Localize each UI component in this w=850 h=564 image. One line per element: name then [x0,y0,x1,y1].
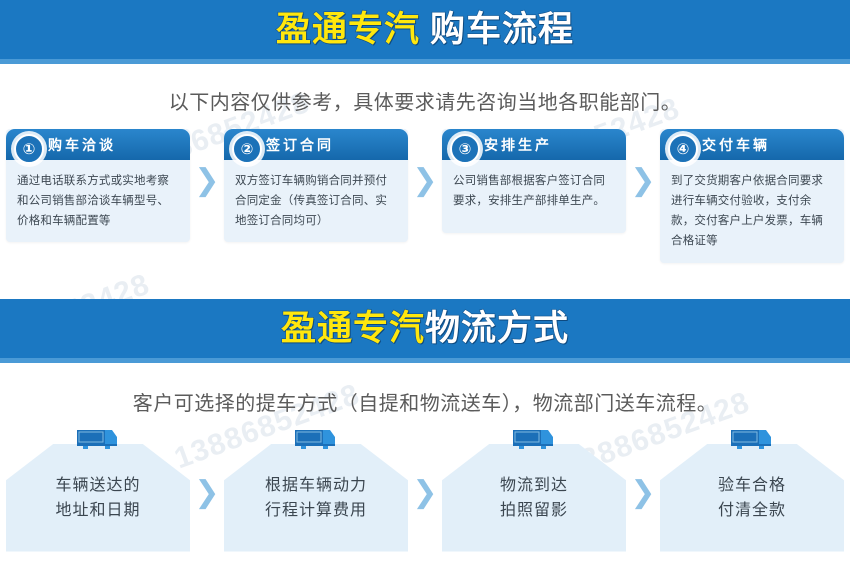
purchase-step-card-4[interactable]: ④ 交付车辆 到了交货期客户依据合同要求进行车辆交付验收，支付余款，交付客户上户… [660,129,844,263]
chevron-right-icon: ❯ [190,129,224,233]
section-spacer [0,263,850,299]
purchase-step-row: ① 购车洽谈 通过电话联系方式或实地考察和公司销售部洽谈车辆型号、价格和车辆配置… [0,115,850,263]
purchase-banner-title: 盈通专汽购车流程 [0,0,850,60]
chevron-right-icon: ❯ [408,129,442,233]
truck-icon [76,428,120,452]
logistics-card-line1: 根据车辆动力 [265,473,367,498]
purchase-step-header-4: ④ 交付车辆 [660,129,844,160]
purchase-banner-heading: 购车流程 [430,10,574,50]
purchase-subtitle: 以下内容仅供参考，具体要求请先咨询当地各职能部门。 [0,64,850,115]
purchase-step-card-2[interactable]: ② 签订合同 双方签订车辆购销合同并预付合同定金（传真签订合同、实地签订合同均可… [224,129,408,242]
purchase-banner-brand: 盈通专汽 [276,10,420,50]
logistics-step-item-4[interactable]: 验车合格 付清全款 [660,428,844,552]
logistics-card-line2: 付清全款 [718,498,786,523]
logistics-card-line1: 物流到达 [500,473,568,498]
purchase-step-body-3: 公司销售部根据客户签订合同要求，安排生产部排单生产。 [442,160,626,222]
logistics-step-item-2[interactable]: 根据车辆动力 行程计算费用 [224,428,408,552]
purchase-step-body-4: 到了交货期客户依据合同要求进行车辆交付验收，支付余款，交付客户上户发票，车辆合格… [660,160,844,263]
purchase-step-card-3[interactable]: ③ 安排生产 公司销售部根据客户签订合同要求，安排生产部排单生产。 [442,129,626,233]
purchase-step-title-2: 签订合同 [266,135,334,155]
logistics-banner-brand: 盈通专汽 [281,309,425,349]
purchase-banner: 盈通专汽购车流程 [0,0,850,64]
step-number-badge: ④ [668,134,698,164]
chevron-right-icon: ❯ [626,434,660,552]
logistics-card-line2: 地址和日期 [55,498,140,523]
truck-icon [730,428,774,452]
step-number-badge: ② [232,134,262,164]
step-number-badge: ① [14,134,44,164]
purchase-step-title-3: 安排生产 [484,135,552,155]
logistics-subtitle: 客户可选择的提车方式（自提和物流送车），物流部门送车流程。 [0,363,850,416]
purchase-step-header-2: ② 签订合同 [224,129,408,160]
logistics-banner-title: 盈通专汽物流方式 [0,299,850,359]
logistics-card-line2: 拍照留影 [500,498,568,523]
purchase-step-header-3: ③ 安排生产 [442,129,626,160]
logistics-card-line1: 车辆送达的 [55,473,140,498]
logistics-card-1: 车辆送达的 地址和日期 [6,444,190,552]
logistics-card-line1: 验车合格 [718,473,786,498]
chevron-right-icon: ❯ [408,434,442,552]
purchase-step-body-2: 双方签订车辆购销合同并预付合同定金（传真签订合同、实地签订合同均可） [224,160,408,242]
chevron-right-icon: ❯ [190,434,224,552]
logistics-banner-heading: 物流方式 [425,309,569,349]
logistics-step-item-1[interactable]: 车辆送达的 地址和日期 [6,428,190,552]
purchase-step-card-1[interactable]: ① 购车洽谈 通过电话联系方式或实地考察和公司销售部洽谈车辆型号、价格和车辆配置… [6,129,190,242]
logistics-card-4: 验车合格 付清全款 [660,444,844,552]
step-number-badge: ③ [450,134,480,164]
purchase-step-title-4: 交付车辆 [702,135,770,155]
purchase-step-body-1: 通过电话联系方式或实地考察和公司销售部洽谈车辆型号、价格和车辆配置等 [6,160,190,242]
chevron-right-icon: ❯ [626,129,660,233]
purchase-step-header-1: ① 购车洽谈 [6,129,190,160]
logistics-banner: 盈通专汽物流方式 [0,299,850,363]
truck-icon [294,428,338,452]
truck-icon [512,428,556,452]
logistics-card-2: 根据车辆动力 行程计算费用 [224,444,408,552]
logistics-step-row: 车辆送达的 地址和日期 ❯ 根据车辆动力 行程计算费用 ❯ 物流 [0,416,850,552]
logistics-card-3: 物流到达 拍照留影 [442,444,626,552]
purchase-step-title-1: 购车洽谈 [48,135,116,155]
logistics-card-line2: 行程计算费用 [265,498,367,523]
logistics-step-item-3[interactable]: 物流到达 拍照留影 [442,428,626,552]
